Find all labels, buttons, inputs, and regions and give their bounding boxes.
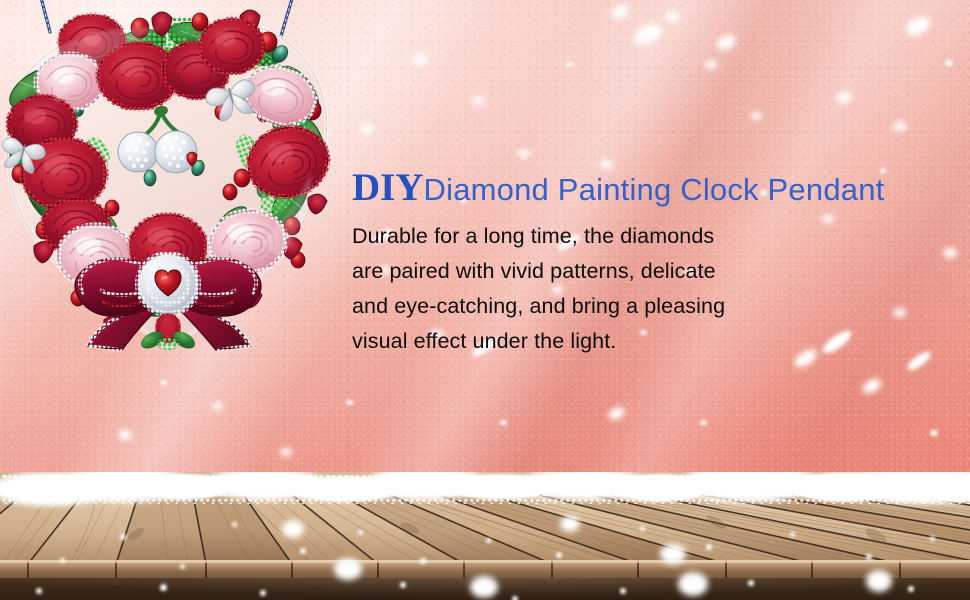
wooden-deck-surface xyxy=(0,472,970,600)
ribbon-bow xyxy=(75,254,261,352)
product-description: Durable for a long time, the diamonds ar… xyxy=(352,219,967,359)
headline-rest: Diamond Painting Clock Pendant xyxy=(424,172,885,207)
product-copy: DIYDiamond Painting Clock Pendant Durabl… xyxy=(352,168,967,359)
product-banner: DIYDiamond Painting Clock Pendant Durabl… xyxy=(0,0,970,600)
description-line: Durable for a long time, the diamonds xyxy=(352,219,967,254)
page-title: DIYDiamond Painting Clock Pendant xyxy=(352,168,967,207)
description-line: are paired with vivid patterns, delicate xyxy=(352,254,967,289)
snow-ridge xyxy=(0,472,970,508)
deck-floor-reflection xyxy=(0,578,970,600)
diamond-painting-pendant xyxy=(0,0,348,358)
rose-red xyxy=(200,19,264,73)
description-line: and eye-catching, and bring a pleasing xyxy=(352,289,967,324)
headline-accent: DIY xyxy=(352,166,424,209)
bow-medallion xyxy=(138,254,198,314)
description-line: visual effect under the light. xyxy=(352,324,967,359)
